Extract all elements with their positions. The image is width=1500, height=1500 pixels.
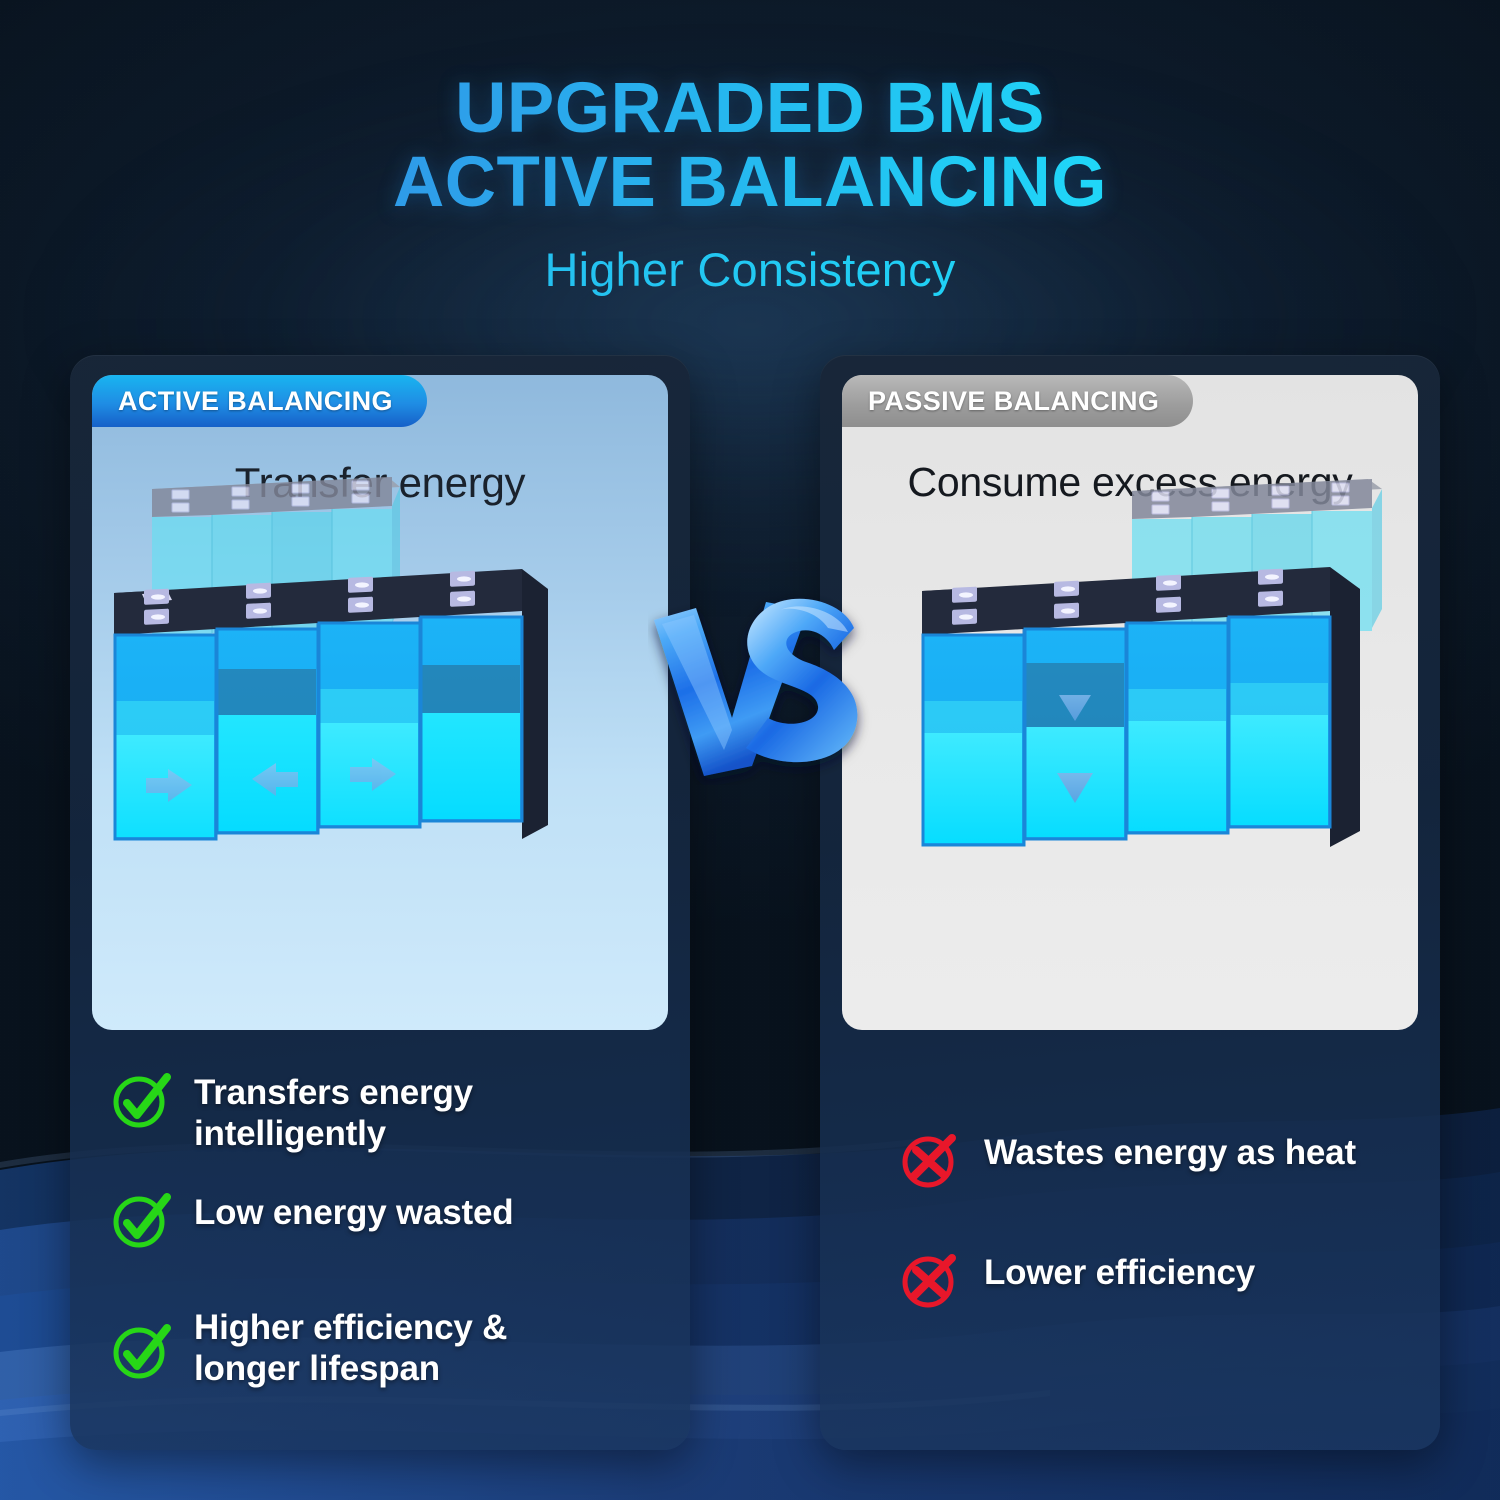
active-feature-item-2: Low energy wasted (110, 1190, 670, 1250)
check-circle-icon (110, 1321, 174, 1381)
title-line-1: UPGRADED BMS (455, 69, 1045, 148)
passive-badge-label: PASSIVE BALANCING (868, 386, 1159, 417)
page-title: UPGRADED BMS ACTIVE BALANCING (0, 72, 1500, 220)
active-feature-item-3: Higher efficiency & longer lifespan (110, 1305, 670, 1389)
active-badge-label: ACTIVE BALANCING (118, 386, 393, 417)
page-subtitle: Higher Consistency (0, 242, 1500, 297)
cross-circle-icon (900, 1250, 964, 1310)
active-feature-label-1: Transfers energy intelligently (194, 1070, 670, 1154)
active-balancing-card: ACTIVE BALANCING Transfer energy (70, 355, 690, 1450)
passive-feature-label-1: Wastes energy as heat (984, 1130, 1356, 1174)
vs-divider-icon (648, 580, 878, 785)
check-circle-icon (110, 1070, 174, 1130)
check-circle-icon (110, 1190, 174, 1250)
active-illustration-panel: ACTIVE BALANCING Transfer energy (92, 375, 668, 1030)
passive-feature-item-2: Lower efficiency (900, 1250, 1420, 1310)
header: UPGRADED BMS ACTIVE BALANCING Higher Con… (0, 72, 1500, 297)
active-feature-item-1: Transfers energy intelligently (110, 1070, 670, 1154)
passive-balancing-card: PASSIVE BALANCING Consume excess energy (820, 355, 1440, 1450)
passive-balancing-badge: PASSIVE BALANCING (842, 375, 1193, 427)
passive-feature-item-1: Wastes energy as heat (900, 1130, 1420, 1190)
active-balancing-badge: ACTIVE BALANCING (92, 375, 427, 427)
active-feature-label-3: Higher efficiency & longer lifespan (194, 1305, 507, 1389)
passive-main-battery-pack (908, 555, 1378, 885)
active-feature-label-2: Low energy wasted (194, 1190, 513, 1234)
passive-feature-label-2: Lower efficiency (984, 1250, 1255, 1294)
passive-illustration-panel: PASSIVE BALANCING Consume excess energy (842, 375, 1418, 1030)
title-line-2: ACTIVE BALANCING (0, 146, 1500, 220)
cross-circle-icon (900, 1130, 964, 1190)
active-main-battery-pack (100, 557, 560, 879)
